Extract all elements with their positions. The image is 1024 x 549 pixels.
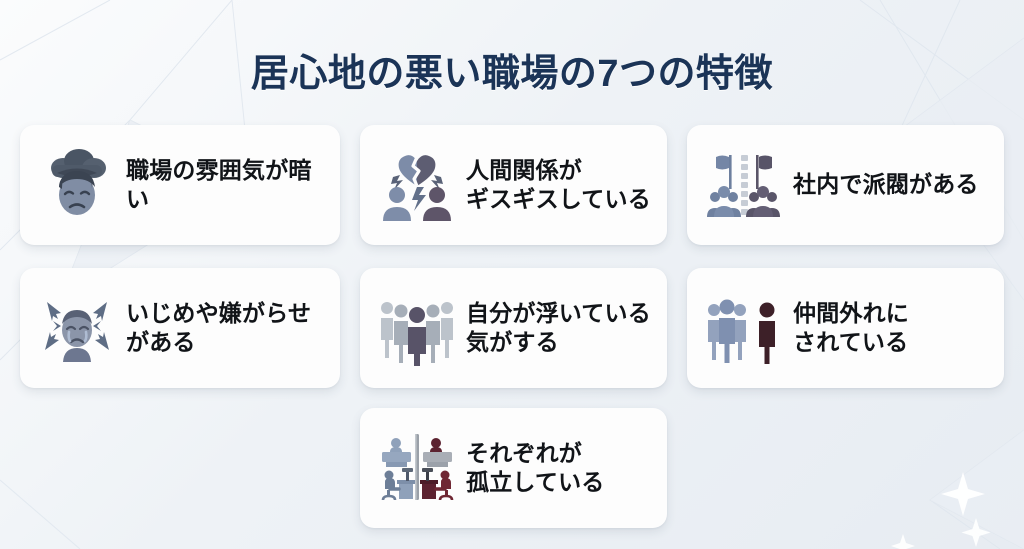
feature-card-6-label: 仲間外れに されている <box>793 299 990 358</box>
feature-card-2[interactable]: 人間関係が ギスギスしている <box>360 125 667 245</box>
feature-card-2-label: 人間関係が ギスギスしている <box>466 156 653 215</box>
title-container: 居心地の悪い職場の7つの特徴 <box>0 28 1024 123</box>
feature-card-3[interactable]: 社内で派閥がある <box>687 125 1004 245</box>
feature-card-1-label: 職場の雰囲気が暗い <box>126 156 326 215</box>
feature-card-5-label: 自分が浮いている 気がする <box>466 299 653 358</box>
feature-card-4[interactable]: いじめや嫌がらせ がある <box>20 268 340 388</box>
feature-card-7-label: それぞれが 孤立している <box>466 439 653 498</box>
standing-out-crowd-icon <box>378 289 456 367</box>
broken-heart-conflict-icon <box>378 146 456 224</box>
feature-card-6[interactable]: 仲間外れに されている <box>687 268 1004 388</box>
isolated-desks-partition-icon <box>378 429 456 507</box>
bullying-arrows-icon <box>38 289 116 367</box>
two-factions-flags-icon <box>705 146 783 224</box>
feature-card-5[interactable]: 自分が浮いている 気がする <box>360 268 667 388</box>
sad-face-rain-cloud-icon <box>38 146 116 224</box>
page-title: 居心地の悪い職場の7つの特徴 <box>251 53 773 97</box>
feature-card-4-label: いじめや嫌がらせ がある <box>126 299 326 358</box>
feature-card-1[interactable]: 職場の雰囲気が暗い <box>20 125 340 245</box>
excluded-person-icon <box>705 289 783 367</box>
feature-card-3-label: 社内で派閥がある <box>793 170 990 199</box>
feature-card-7[interactable]: それぞれが 孤立している <box>360 408 667 528</box>
